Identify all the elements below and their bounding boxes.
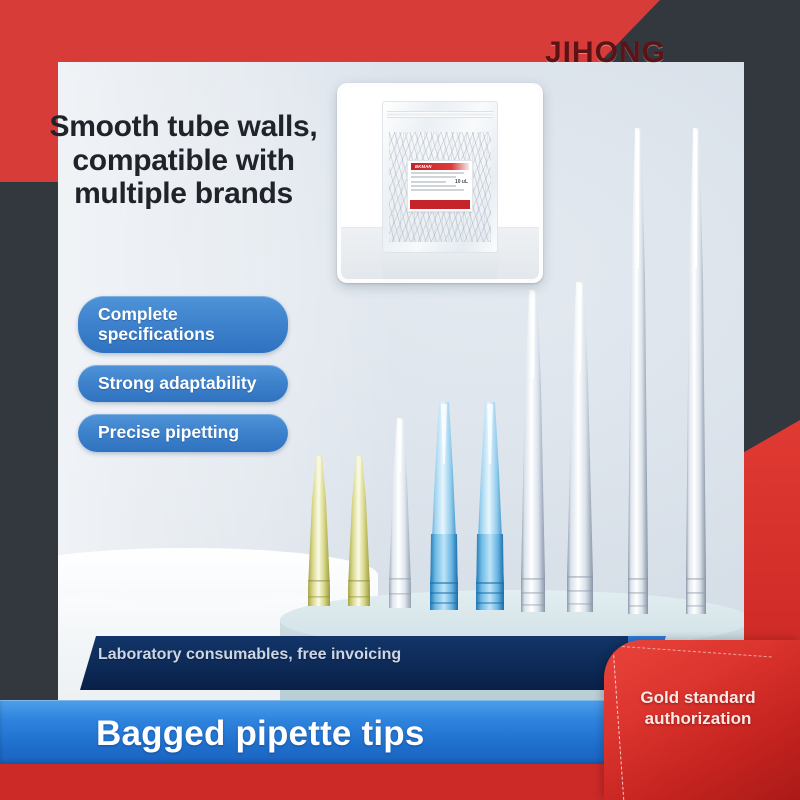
bag-zip-seal: [387, 111, 493, 118]
pipette-tip-clear-4: [623, 128, 653, 614]
bag-product-label: BKMAN 10 uL: [407, 160, 473, 212]
bag-label-volume: 10 uL: [455, 179, 468, 185]
product-bag-card: BKMAN 10 uL: [337, 83, 543, 283]
bag-label-brand-bar: BKMAN: [411, 163, 469, 170]
bag-label-footer-bar: [410, 200, 470, 209]
feature-pill-list: Complete specifications Strong adaptabil…: [78, 296, 288, 464]
pipette-tip-blue-2: [472, 402, 508, 610]
pipette-tip-blue-1: [426, 402, 462, 610]
feature-pill-complete-specifications[interactable]: Complete specifications: [78, 296, 288, 353]
bag-reflection: [382, 249, 498, 279]
pipette-tip-yellow-2: [346, 456, 372, 606]
feature-pill-strong-adaptability[interactable]: Strong adaptability: [78, 365, 288, 402]
bag-label-brand-text: BKMAN: [415, 163, 432, 170]
brand-logo-text: JIHONG: [545, 36, 666, 70]
bag-label-line: [411, 181, 446, 183]
pipette-tip-clear-3: [563, 282, 597, 612]
bag-label-line: [411, 185, 456, 187]
feature-pill-precise-pipetting[interactable]: Precise pipetting: [78, 414, 288, 451]
product-bag-card-inner: BKMAN 10 uL: [341, 87, 539, 279]
pipette-tip-yellow-1: [306, 456, 332, 606]
pipette-tip-clear-2: [517, 290, 549, 612]
bag-label-line: [411, 189, 464, 191]
pipette-tip-clear-1: [386, 418, 414, 608]
gold-standard-badge-text: Gold standard authorization: [604, 688, 792, 729]
ribbon-banner-text: Laboratory consumables, free invoicing: [98, 645, 598, 665]
poster-canvas: BKMAN 10 uL Smooth tube walls, compatibl…: [0, 0, 800, 800]
gold-standard-badge: Gold standard authorization: [604, 640, 800, 800]
ziplock-bag: BKMAN 10 uL: [382, 101, 498, 253]
bag-label-line: [411, 176, 456, 178]
bag-label-line: [411, 172, 464, 174]
bottom-bar-title: Bagged pipette tips: [96, 714, 425, 754]
badge-stitch-line-horizontal: [622, 646, 772, 658]
pipette-tip-clear-5: [681, 128, 711, 614]
page-title: Smooth tube walls, compatible with multi…: [46, 110, 321, 211]
